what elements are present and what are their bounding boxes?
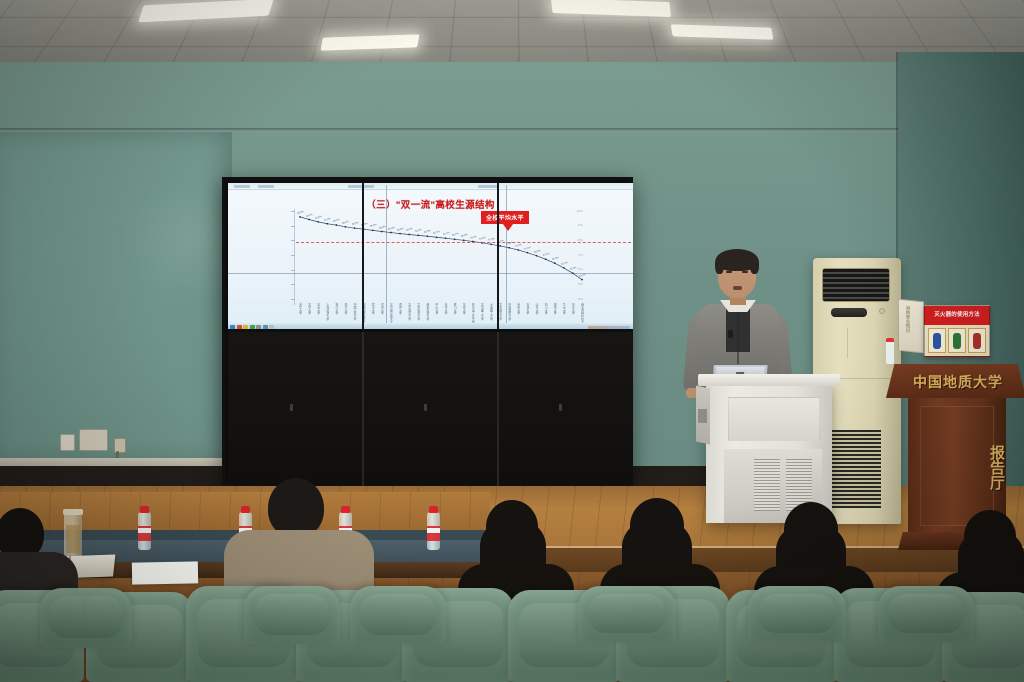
chart-x-tick-label: 北京大学: [308, 303, 312, 315]
chart-x-tick-label: 哈尔滨工业大学: [471, 303, 475, 323]
chart-x-tick-label: 厦门大学: [453, 303, 457, 315]
video-wall-display[interactable]: （三）"双一流"高校生源结构 100%90%80%70%60%50%40% 96…: [222, 177, 633, 487]
badge-arrow-icon: [500, 220, 516, 231]
chart-y-axis: [294, 209, 295, 305]
chart-x-tick-label: 武汉大学: [371, 303, 375, 315]
lectern-university-name: 中国地质大学: [888, 372, 1024, 392]
chart-x-tick-label: 复旦大学: [317, 303, 321, 315]
auditorium-seat: [350, 586, 446, 644]
chart-x-tick-label: 华中科技大学: [417, 303, 421, 320]
chart-x-tick-label: 同济大学: [380, 303, 384, 315]
chart-x-tick-label: 兰州大学: [562, 303, 566, 315]
chart-y-tick-mark: [291, 284, 295, 285]
audience-member: [246, 478, 366, 598]
chart-x-tick-label: 四川大学: [544, 303, 548, 315]
wall-notice-board: 消防安全知识: [898, 299, 924, 354]
ac-power-button-icon[interactable]: [879, 308, 885, 314]
presentation-slide: （三）"双一流"高校生源结构 100%90%80%70%60%50%40% 96…: [228, 183, 633, 331]
chart-x-tick-label: 大连理工大学: [490, 303, 494, 320]
chart-y-tick-mark: [291, 299, 295, 300]
wall-outlet-plate: [79, 429, 108, 451]
chart-x-tick-label: 中国地质大学: [508, 303, 512, 320]
podium-front-panel: [728, 397, 820, 441]
lectern-hall-name: 报告厅: [908, 412, 1006, 522]
chart-x-tick-label: 山东大学: [535, 303, 539, 315]
podium-side-handle: [698, 409, 707, 423]
ac-lower-vent: [825, 430, 881, 508]
chart-x-tick-label: 北京师范大学: [408, 303, 412, 320]
chart-y-tick-mark: [291, 270, 295, 271]
chart-y-tick-mark: [291, 226, 295, 227]
chart-y-tick-mark: [291, 255, 295, 256]
chart-plot-area: 100%90%80%70%60%50%40% 96.0%94.2%92.6%91…: [296, 211, 586, 299]
notice-board-text: 消防安全知识: [905, 305, 911, 333]
chart-x-tick-label: 西安交通大学: [426, 303, 430, 320]
fire-safety-poster: 灭火器的使用方法: [924, 305, 990, 357]
chart-title: （三）"双一流"高校生源结构: [228, 197, 633, 211]
presenter-hair-side: [750, 256, 759, 274]
presenter-hair-side: [715, 256, 724, 274]
presenter-eye: [742, 271, 748, 273]
auditorium-seat: [244, 586, 340, 644]
auditorium-seat: [878, 586, 974, 642]
panel-bezel-seam: [362, 183, 364, 331]
chart-x-tick-label: 南开大学: [399, 303, 403, 315]
lecture-hall-scene: （三）"双一流"高校生源结构 100%90%80%70%60%50%40% 96…: [0, 0, 1024, 682]
chart-x-tick-label: 浙江大学: [335, 303, 339, 315]
wall-outlet: [60, 434, 75, 451]
chart-x-tick-label: 湖南大学: [553, 303, 557, 315]
podium-worktop: [698, 374, 840, 386]
chart-x-tick-label: 重庆大学: [517, 303, 521, 315]
chart-x-tick-label: 华东师范大学: [499, 303, 503, 320]
audience-member: [0, 508, 80, 598]
poster-instruction-cells: [928, 328, 986, 353]
chart-x-tick-label: 天津大学: [444, 303, 448, 315]
chart-x-tick-label: 中国人民大学: [353, 303, 357, 320]
clip-microphone-icon: [728, 330, 733, 338]
auditorium-seat: [578, 586, 676, 642]
chart-y-tick-mark: [291, 240, 295, 241]
auditorium-seat: [748, 586, 846, 642]
chart-x-tick-label: 中山大学: [435, 303, 439, 315]
chart-average-reference-line: [296, 242, 631, 243]
water-bottle: [427, 506, 440, 550]
video-wall-top-row[interactable]: （三）"双一流"高校生源结构 100%90%80%70%60%50%40% 96…: [228, 183, 633, 331]
slide-app-toolbar: [228, 183, 633, 190]
chart-x-tick-label: 上海交通大学: [326, 303, 330, 320]
chart-x-tick-label: 东南大学: [462, 303, 466, 315]
water-bottle: [138, 506, 151, 550]
ac-seam: [847, 328, 848, 358]
ac-air-vent: [822, 268, 890, 302]
water-bottle: [886, 338, 894, 364]
chart-x-tick-label: 吉林大学: [526, 303, 530, 315]
poster-title: 灭火器的使用方法: [925, 310, 989, 318]
presenter-eye: [726, 271, 732, 273]
chart-x-tick-label: 东北大学: [571, 303, 575, 315]
chart-x-tick-label: 清华大学: [299, 303, 303, 315]
video-wall-bottom-row[interactable]: [228, 332, 633, 487]
auditorium-seat: [40, 588, 132, 648]
ac-display-panel: [831, 308, 867, 317]
chart-x-tick-label: 南京大学: [344, 303, 348, 315]
chart-y-tick-mark: [291, 211, 295, 212]
chart-x-tick-label: 北京理工大学: [480, 303, 484, 320]
paper-sheet: [132, 561, 198, 584]
presenter-mouth: [733, 286, 742, 290]
panel-bezel-seam: [497, 183, 499, 331]
